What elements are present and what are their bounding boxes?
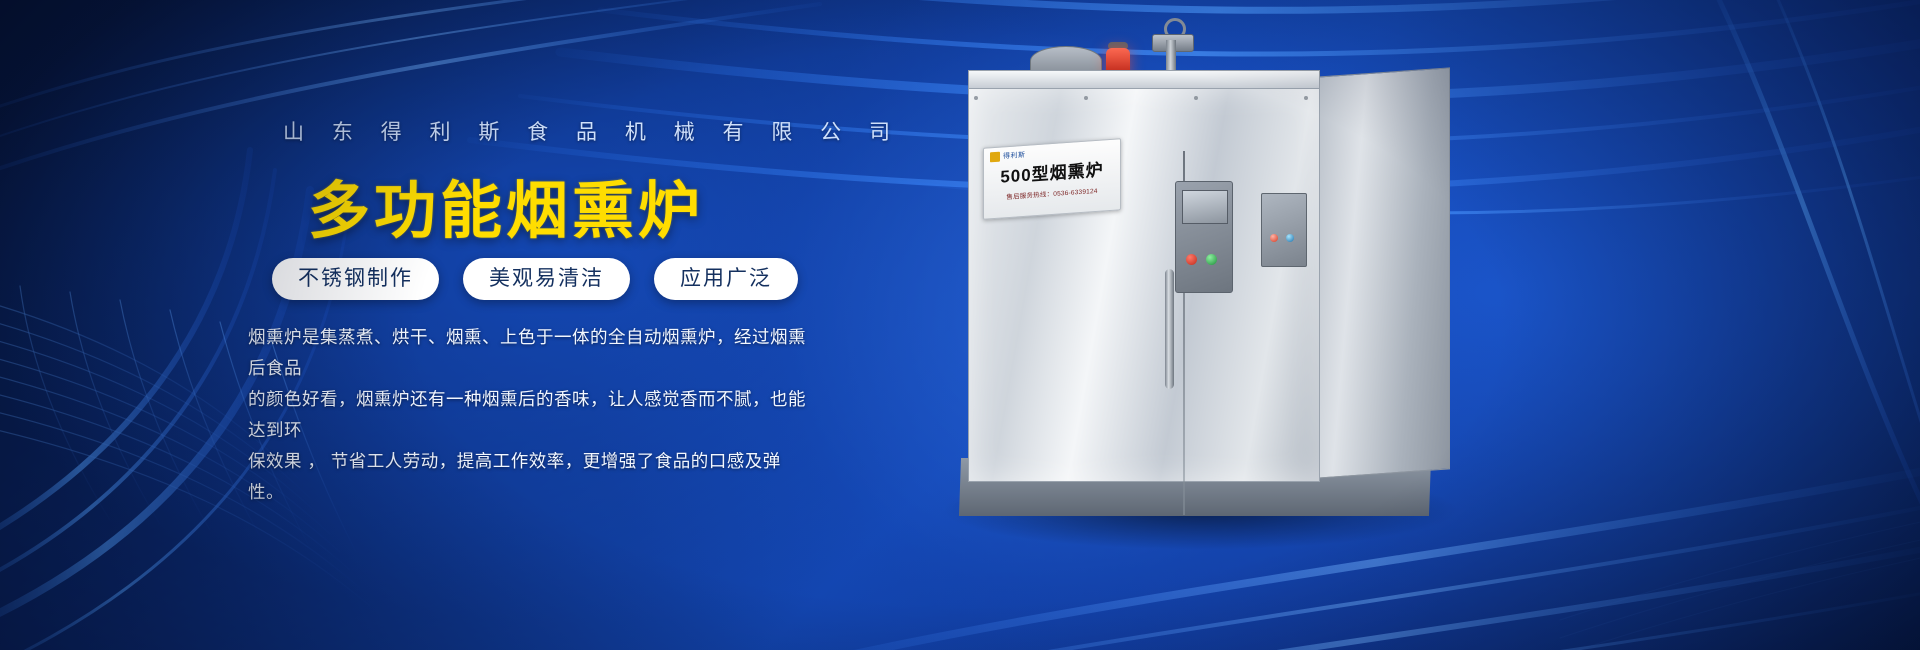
product-photo-smoke-oven: 得利斯 500型烟熏炉 售后服务热线：0536-6339124 [930, 40, 1490, 560]
feature-pill-wide-application[interactable]: 应用广泛 [654, 258, 798, 300]
banner-content: 山 东 得 利 斯 食 品 机 械 有 限 公 司 多功能烟熏炉 不锈钢制作 美… [0, 0, 860, 650]
status-led-red-icon [1270, 234, 1278, 242]
description-line-1: 烟熏炉是集蒸煮、烘干、烟熏、上色于一体的全自动烟熏炉，经过烟熏后食品 [248, 322, 814, 384]
page-title: 多功能烟熏炉 [308, 160, 704, 250]
feature-pill-stainless-steel[interactable]: 不锈钢制作 [272, 258, 439, 300]
product-front-body: 得利斯 500型烟熏炉 售后服务热线：0536-6339124 [968, 88, 1320, 482]
feature-pill-easy-clean[interactable]: 美观易清洁 [463, 258, 630, 300]
product-side-panel [1316, 67, 1450, 478]
feature-pill-group: 不锈钢制作 美观易清洁 应用广泛 [272, 258, 798, 300]
control-panel[interactable] [1175, 181, 1233, 293]
company-name: 山 东 得 利 斯 食 品 机 械 有 限 公 司 [283, 116, 901, 146]
product-name-plate: 得利斯 500型烟熏炉 售后服务热线：0536-6339124 [983, 138, 1121, 220]
banner-stage: 山 东 得 利 斯 食 品 机 械 有 限 公 司 多功能烟熏炉 不锈钢制作 美… [0, 0, 1920, 650]
description-paragraph: 烟熏炉是集蒸煮、烘干、烟熏、上色于一体的全自动烟熏炉，经过烟熏后食品 的颜色好看… [248, 322, 814, 508]
brand-logo-icon [990, 152, 1000, 163]
status-led-blue-icon [1286, 234, 1294, 242]
secondary-control-box[interactable] [1261, 193, 1307, 267]
nameplate-brand-text: 得利斯 [1003, 150, 1026, 162]
stop-button-icon[interactable] [1186, 254, 1197, 265]
start-button-icon[interactable] [1206, 254, 1217, 265]
description-line-2: 的颜色好看，烟熏炉还有一种烟熏后的香味，让人感觉香而不腻，也能达到环 [248, 384, 814, 446]
description-line-3: 保效果 ， 节省工人劳动，提高工作效率，更增强了食品的口感及弹性。 [248, 446, 814, 508]
door-handle[interactable] [1165, 269, 1174, 389]
control-panel-display [1182, 190, 1228, 224]
